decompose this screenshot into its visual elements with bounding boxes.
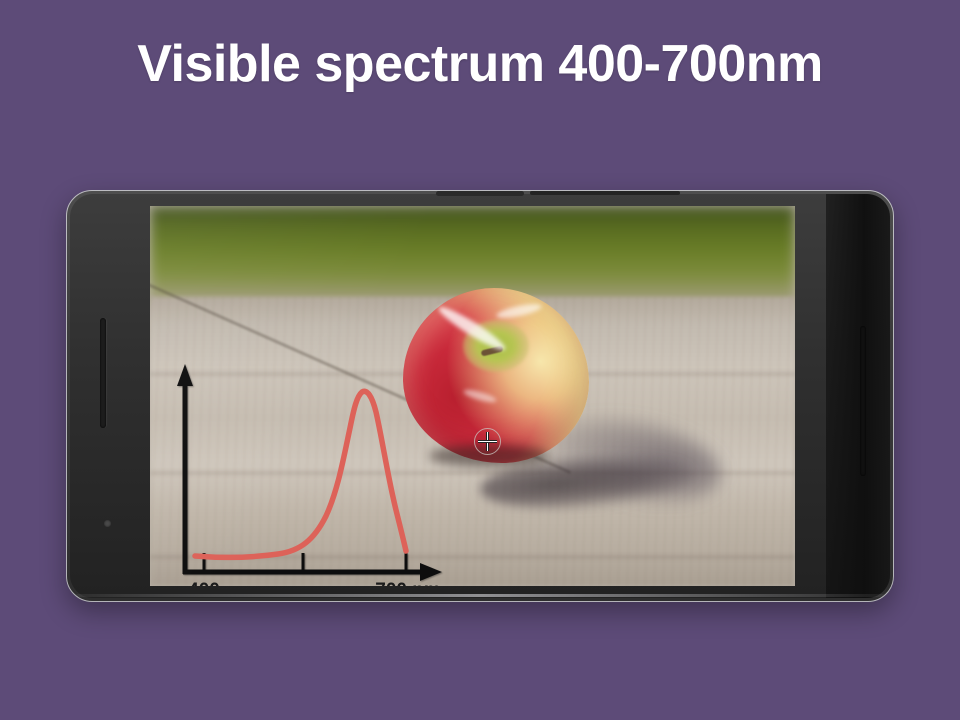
phone-right-bezel bbox=[826, 194, 890, 598]
x-axis-arrow-icon bbox=[420, 563, 442, 581]
phone-screen[interactable]: 400 700 nm bbox=[150, 206, 795, 586]
earpiece-speaker-icon bbox=[436, 191, 524, 196]
microphone-icon bbox=[104, 520, 111, 527]
y-axis-arrow-icon bbox=[177, 364, 193, 386]
spectrum-chart: 400 700 nm bbox=[150, 206, 795, 586]
volume-button[interactable] bbox=[100, 318, 106, 428]
chart-axes bbox=[177, 364, 442, 581]
power-button[interactable] bbox=[860, 326, 866, 476]
x-axis-start-label: 400 bbox=[188, 580, 220, 586]
x-axis-end-label: 700 nm bbox=[375, 580, 440, 586]
top-sensor-strip-icon bbox=[530, 191, 680, 195]
phone-bottom-edge bbox=[76, 594, 884, 597]
page-title: Visible spectrum 400-700nm bbox=[0, 36, 960, 93]
chart-tick-labels: 400 700 nm bbox=[188, 580, 441, 586]
spectrum-curve bbox=[195, 391, 406, 557]
camera-preview-scene: 400 700 nm bbox=[150, 206, 795, 586]
phone-device: 400 700 nm bbox=[66, 190, 894, 602]
